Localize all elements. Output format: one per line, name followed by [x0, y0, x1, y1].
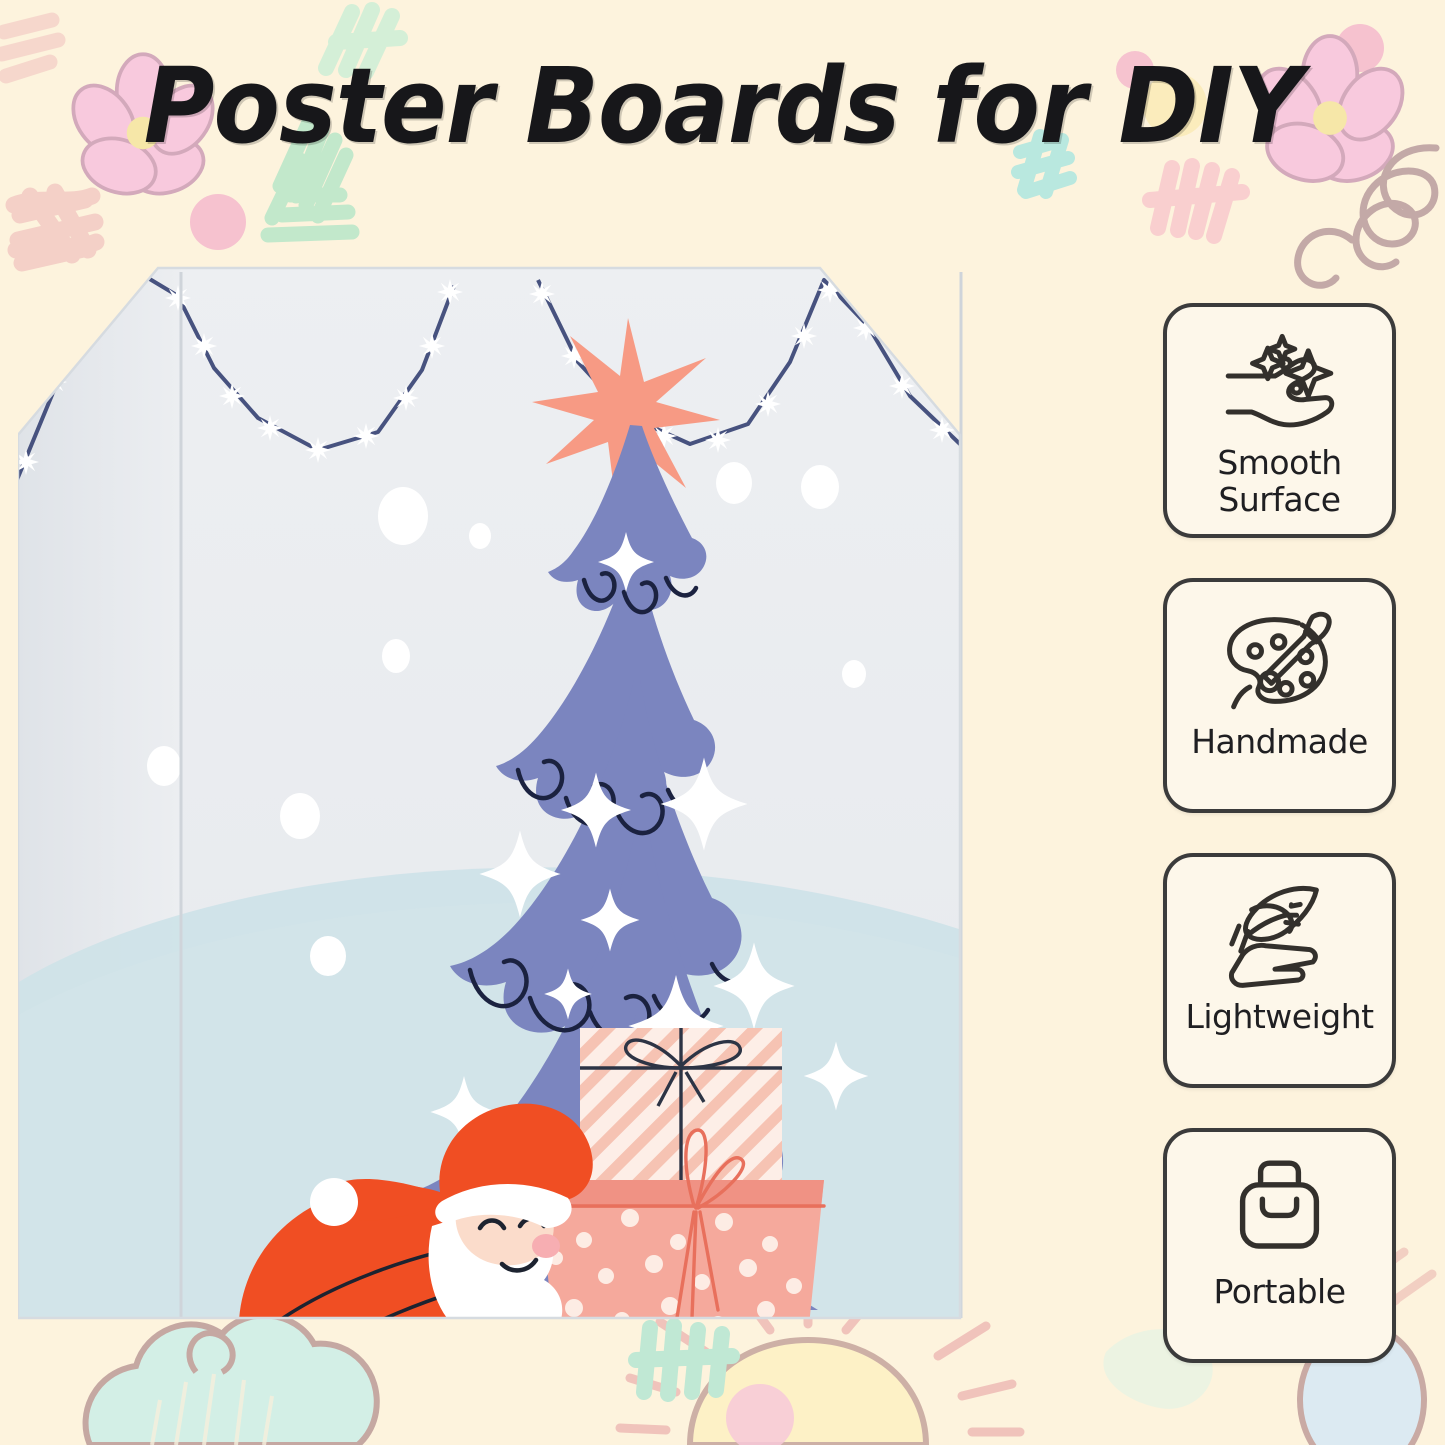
dot-doodle-pink-top-left — [190, 194, 246, 250]
page-title: Poster Boards for DIY — [143, 45, 1301, 167]
santa-cheek — [532, 1234, 560, 1258]
product-image — [18, 250, 1123, 1340]
feature-badge-list: Smooth Surface Handmade — [1163, 303, 1398, 1363]
feature-badge-handmade[interactable]: Handmade — [1163, 578, 1396, 813]
feature-badge-smooth-surface[interactable]: Smooth Surface — [1163, 303, 1396, 538]
sparkle-hand-icon — [1212, 329, 1347, 441]
page-title-container: Poster Boards for DIY — [0, 46, 1445, 166]
dot-doodle-pink-bottom — [726, 1384, 794, 1445]
scribble-doodle-pink-right — [1150, 166, 1242, 236]
board-panel-right — [961, 250, 1123, 1340]
santa-hat-pompom — [310, 1178, 358, 1226]
briefcase-icon — [1212, 1154, 1347, 1266]
palette-brush-icon — [1212, 604, 1347, 716]
feature-badge-lightweight[interactable]: Lightweight — [1163, 853, 1396, 1088]
feature-label-line-1: Smooth — [1217, 443, 1341, 482]
feature-badge-label: Lightweight — [1185, 999, 1373, 1036]
feature-badge-portable[interactable]: Portable — [1163, 1128, 1396, 1363]
feature-badge-label: Portable — [1213, 1274, 1345, 1311]
gift-box-striped — [580, 1028, 782, 1180]
feature-label-line-2: Surface — [1218, 480, 1340, 519]
spiral-doodle-top-right — [1298, 148, 1436, 286]
feature-badge-label: Handmade — [1191, 724, 1368, 761]
tri-fold-poster-board-illustration — [18, 250, 1123, 1340]
santa-cuff — [486, 1327, 568, 1340]
feather-hand-icon — [1212, 879, 1347, 991]
feature-badge-label: Smooth Surface — [1217, 445, 1341, 519]
